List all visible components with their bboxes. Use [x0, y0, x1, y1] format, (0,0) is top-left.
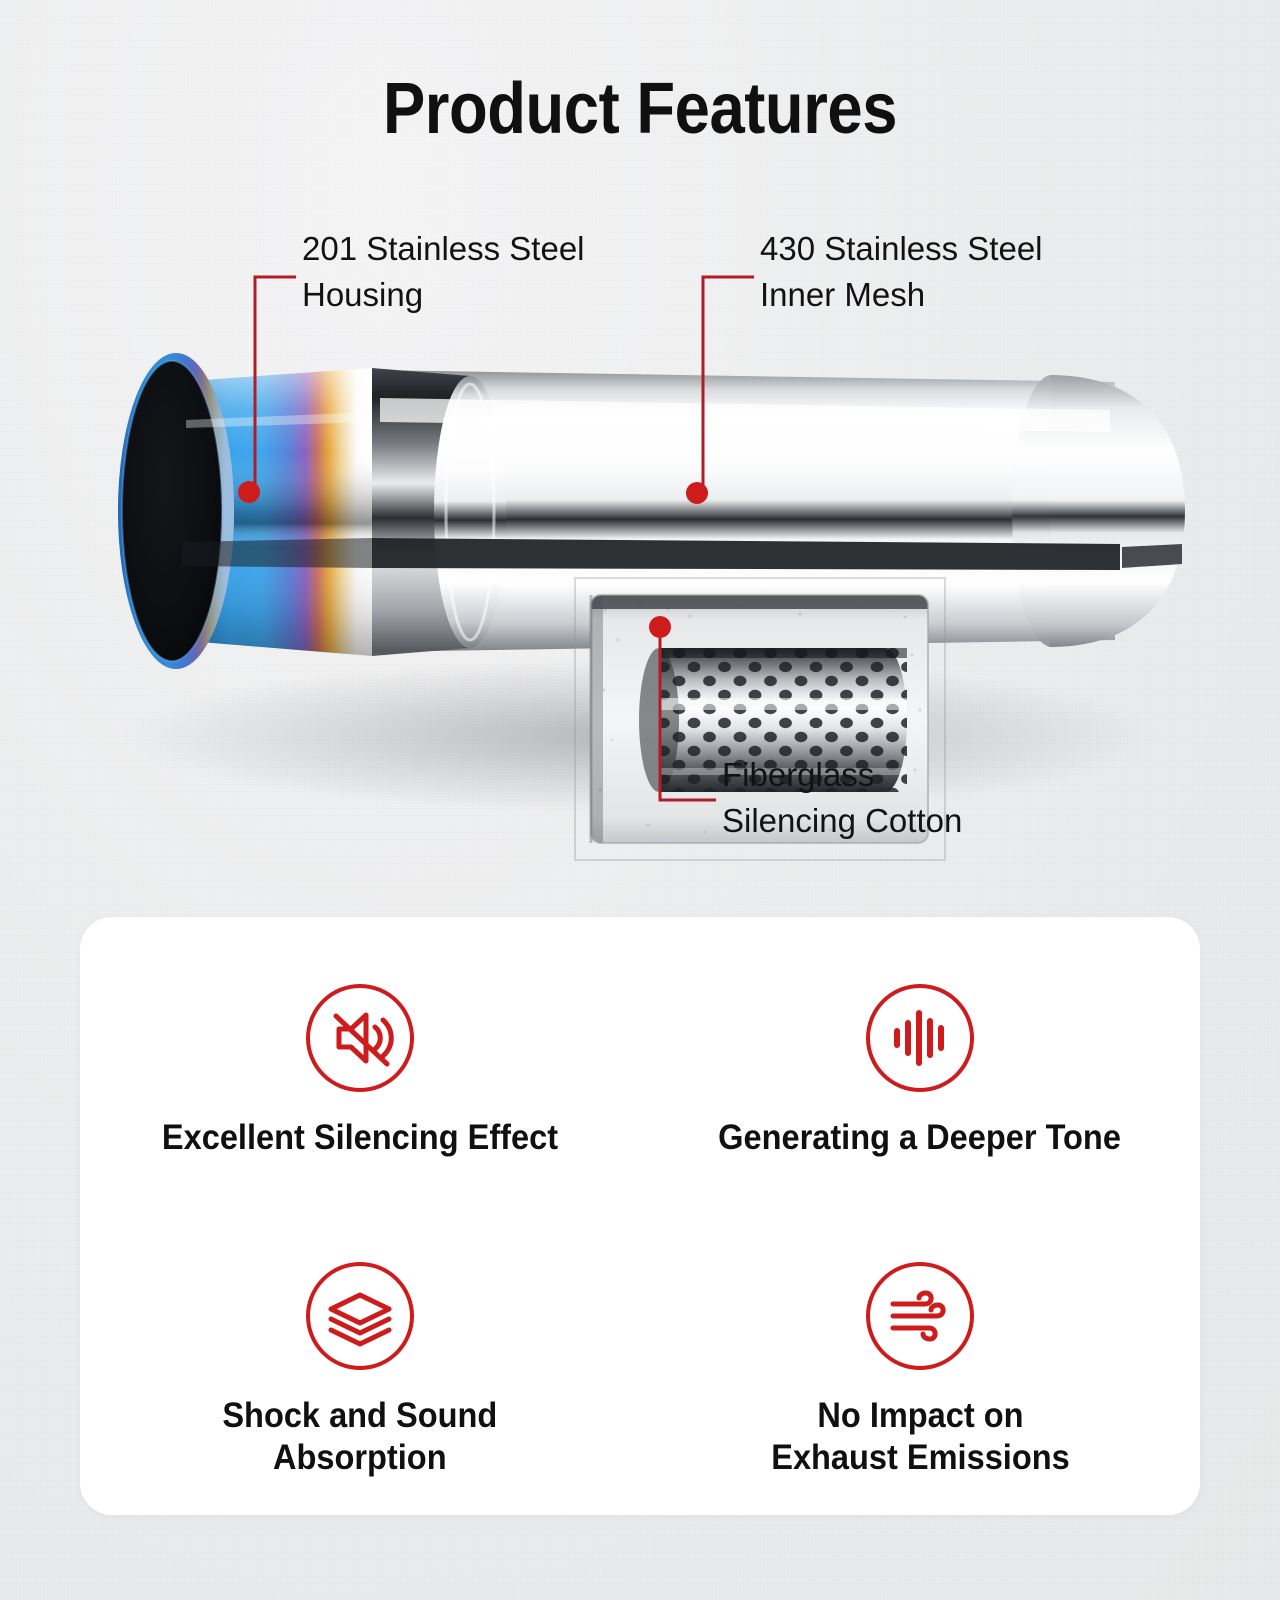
callout-label-inner-mesh: 430 Stainless Steel Inner Mesh	[760, 226, 1043, 318]
page-title: Product Features	[77, 68, 1203, 150]
callout-dot-silencing-cotton	[649, 616, 671, 638]
callout-dot-inner-mesh	[686, 482, 708, 504]
feature-item-emissions: No Impact on Exhaust Emissions	[640, 1216, 1200, 1515]
feature-item-shock-absorption: Shock and Sound Absorption	[80, 1216, 640, 1515]
feature-item-silencing: Excellent Silencing Effect	[80, 917, 640, 1216]
feature-label-silencing: Excellent Silencing Effect	[162, 1117, 558, 1159]
leader-line-housing	[238, 277, 296, 503]
product-illustration: 201 Stainless Steel Housing 430 Stainles…	[0, 170, 1280, 890]
feature-label-deeper-tone: Generating a Deeper Tone	[719, 1117, 1122, 1159]
sound-wave-icon	[863, 981, 977, 1095]
feature-card: Excellent Silencing Effect Generating a …	[80, 917, 1200, 1515]
feature-item-deeper-tone: Generating a Deeper Tone	[640, 917, 1200, 1216]
callout-label-housing: 201 Stainless Steel Housing	[302, 226, 585, 318]
feature-label-shock-absorption: Shock and Sound Absorption	[223, 1395, 498, 1479]
callout-leader-lines	[0, 170, 1280, 890]
leader-line-inner-mesh	[686, 277, 754, 504]
leader-line-silencing-cotton	[649, 616, 716, 800]
layers-stack-icon	[303, 1259, 417, 1373]
feature-label-emissions: No Impact on Exhaust Emissions	[771, 1395, 1069, 1479]
callout-label-silencing-cotton: Fiberglass Silencing Cotton	[722, 752, 962, 844]
wind-airflow-icon	[863, 1259, 977, 1373]
muted-speaker-icon	[303, 981, 417, 1095]
callout-dot-housing	[238, 481, 260, 503]
